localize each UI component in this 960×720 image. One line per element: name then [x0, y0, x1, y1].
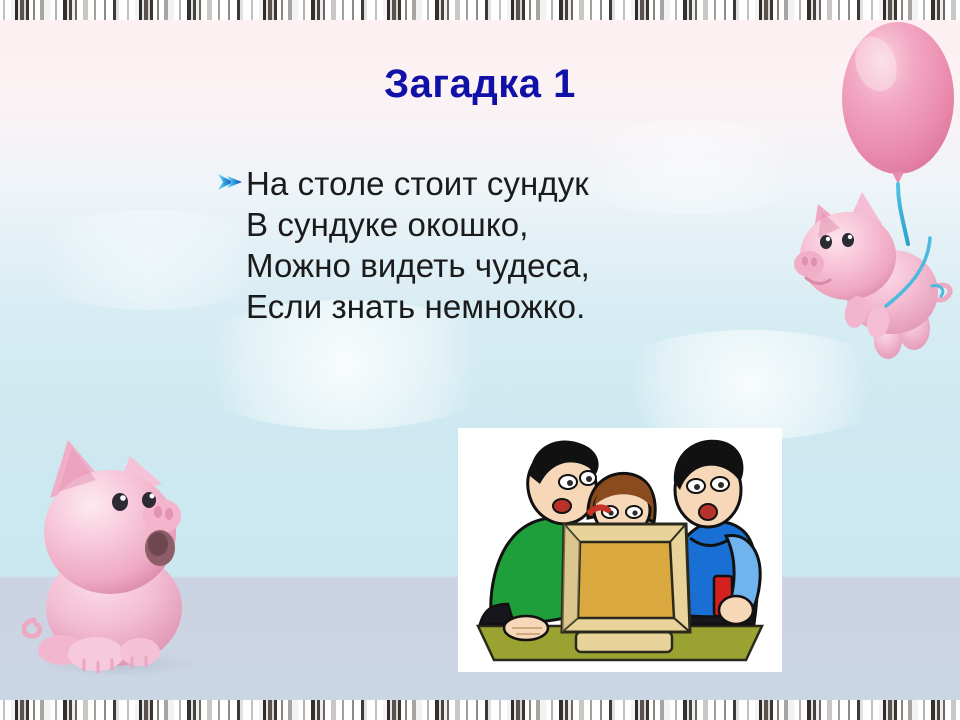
pig-flying-right — [782, 180, 960, 360]
pig-sitting-left — [22, 424, 212, 676]
page-title: Загадка 1 — [0, 62, 960, 107]
blue-arrow-bullet-icon — [216, 168, 246, 206]
riddle-text: На столе стоит сундук В сундуке окошко, … — [246, 163, 590, 327]
bottom-barcode-border — [0, 700, 960, 720]
slide-canvas: Загадка 1 На столе стоит сундук В с — [0, 0, 960, 720]
riddle-block: На столе стоит сундук В сундуке окошко, … — [216, 163, 756, 327]
top-barcode-border — [0, 0, 960, 20]
children-at-computer-clipart — [458, 428, 782, 672]
